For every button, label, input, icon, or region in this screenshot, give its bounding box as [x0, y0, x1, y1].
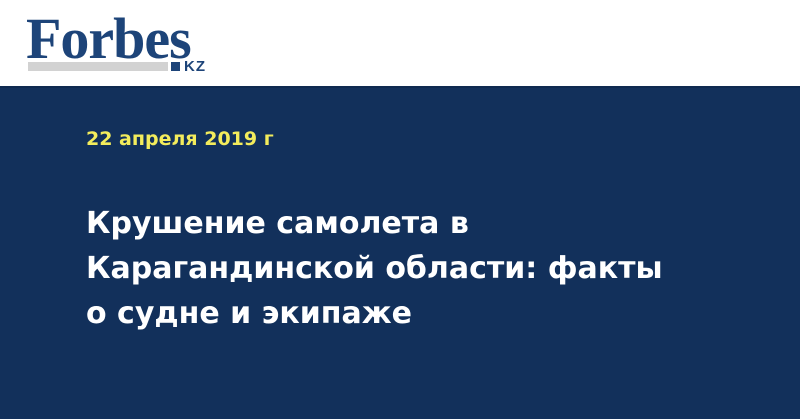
article-headline: Крушение самолета в Карагандинской облас… — [86, 201, 726, 336]
hero-banner: 22 апреля 2019 г Крушение самолета в Кар… — [0, 86, 800, 419]
hero-top-divider — [0, 86, 800, 88]
forbes-kz-logo[interactable]: Forbes KZ — [26, 10, 256, 80]
logo-kz-suffix: KZ — [184, 59, 206, 74]
headline-line: Крушение самолета в — [86, 201, 726, 246]
site-header: Forbes KZ — [0, 0, 800, 86]
article-header-card: Forbes KZ 22 апреля 2019 г Крушение само… — [0, 0, 800, 419]
article-publish-date: 22 апреля 2019 г — [86, 128, 274, 150]
headline-line: о судне и экипаже — [86, 291, 726, 336]
logo-wordmark: Forbes — [26, 10, 191, 68]
logo-square-icon — [171, 62, 180, 71]
logo-rule-divider — [28, 62, 168, 71]
headline-line: Карагандинской области: факты — [86, 246, 726, 291]
